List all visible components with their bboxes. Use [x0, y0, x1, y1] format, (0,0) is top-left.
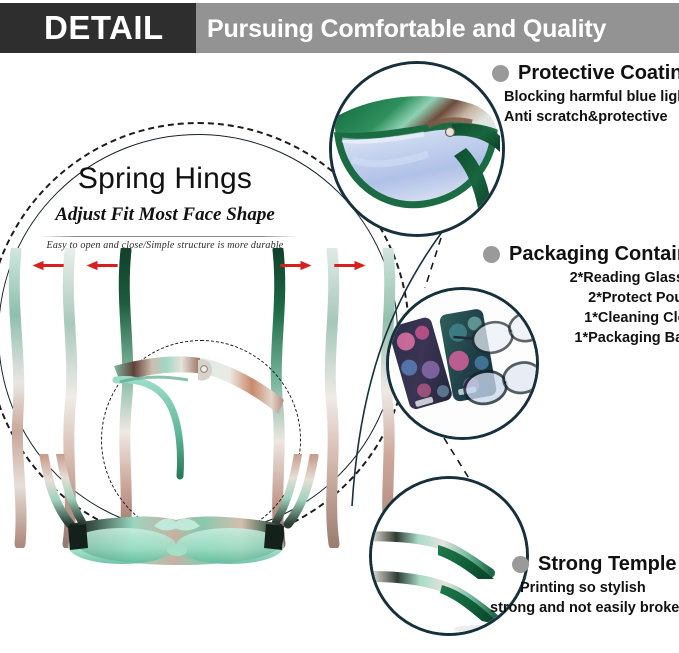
callout-strong-temple: Strong Temple Printing so stylish strong… [512, 553, 679, 616]
callout-line-2: Anti scratch&protective [492, 109, 679, 125]
callout-protective-coating: Protective Coating Blocking harmful blue… [492, 62, 679, 125]
callout-line-1: Printing so stylish [512, 580, 679, 596]
product-detail-infographic: DETAIL Pursuing Comfortable and Quality … [0, 0, 679, 653]
callout-line-4: 1*Packaging Bags [483, 330, 679, 346]
arrow-left-inner-icon [86, 260, 120, 271]
header-tagline: Pursuing Comfortable and Quality [207, 13, 606, 45]
callout-line-2: strong and not easily broken [490, 600, 679, 616]
spring-hinge-title: Spring Hings [0, 162, 330, 196]
callout-title: Protective Coating [518, 62, 679, 85]
photo-protective-coating [329, 61, 505, 237]
callout-title-row: Packaging Contains [483, 243, 679, 266]
callout-title: Strong Temple [538, 553, 677, 576]
spring-hinge-subtitle: Adjust Fit Most Face Shape [0, 204, 330, 226]
arrow-right-inner-icon [278, 260, 312, 271]
callout-title-row: Strong Temple [512, 553, 679, 576]
callout-line-2: 2*Protect Pouch [483, 290, 679, 306]
bullet-icon [492, 65, 509, 82]
callout-line-3: 1*Cleaning Cloth [483, 310, 679, 326]
spring-hinge-divider [40, 236, 298, 237]
header-bar: DETAIL Pursuing Comfortable and Quality [0, 3, 679, 53]
bullet-icon [483, 246, 500, 263]
callout-line-1: Blocking harmful blue light [492, 89, 679, 105]
main-glasses-photo [14, 454, 344, 594]
green-glasses-illustration [332, 64, 502, 234]
callout-title-row: Protective Coating [492, 62, 679, 85]
header-badge-detail: DETAIL [44, 9, 164, 47]
arrow-left-outer-icon [32, 260, 66, 271]
callout-title: Packaging Contains [509, 243, 679, 266]
callout-line-1: 2*Reading Glasses [483, 270, 679, 286]
bullet-icon [512, 556, 529, 573]
callout-packaging-contains: Packaging Contains 2*Reading Glasses 2*P… [483, 243, 679, 346]
